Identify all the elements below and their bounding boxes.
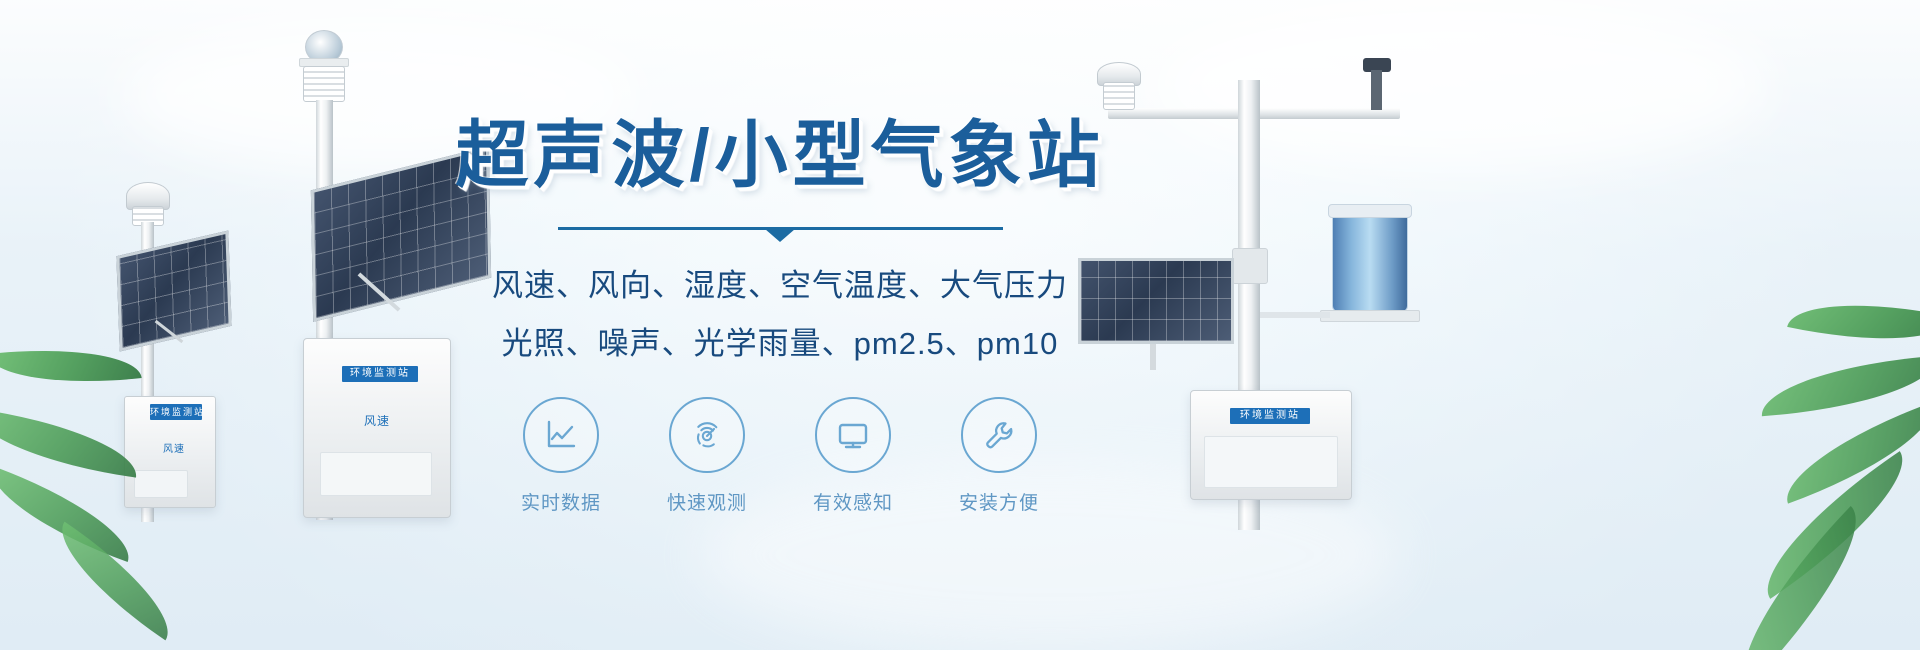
rain-gauge-rim — [1328, 204, 1412, 218]
line-chart-icon — [523, 397, 599, 473]
radiation-shield-stack — [303, 66, 345, 102]
feature-item-realtime-data[interactable]: 实时数据 — [517, 397, 605, 515]
wrench-icon — [961, 397, 1037, 473]
leaf-blade — [1742, 451, 1920, 599]
cabinet-door-panel — [320, 452, 432, 496]
feature-label: 安装方便 — [959, 488, 1039, 515]
cabinet-vent — [134, 470, 188, 498]
feature-item-easy-install[interactable]: 安装方便 — [955, 397, 1043, 515]
cabinet-label: 环境监测站 — [1230, 408, 1310, 424]
monitor-icon — [815, 397, 891, 473]
leaf-blade — [1712, 506, 1888, 650]
feature-item-effective-sensing[interactable]: 有效感知 — [809, 397, 897, 515]
leaf-blade — [0, 408, 142, 477]
feature-item-fast-observation[interactable]: 快速观测 — [663, 397, 751, 515]
feature-label: 有效感知 — [813, 488, 893, 515]
shelf-support-arm — [1260, 312, 1330, 318]
instrument-shelf — [1320, 310, 1420, 322]
leaf-blade — [0, 466, 143, 562]
leaf-blade — [1772, 402, 1920, 503]
leaf-blade — [1787, 284, 1920, 360]
solar-panel — [1078, 258, 1234, 344]
leaf-blade — [1759, 356, 1920, 416]
feature-label: 实时数据 — [521, 488, 601, 515]
cabinet-brand-label: 风速 — [163, 440, 185, 455]
leaf-blade — [41, 522, 189, 641]
subtitle-line-2: 光照、噪声、光学雨量、pm2.5、pm10 — [502, 318, 1059, 363]
cabinet-door-panel — [1204, 436, 1338, 488]
mast-clamp — [1232, 248, 1268, 284]
cabinet-brand-label: 风速 — [364, 412, 390, 429]
panel-mount — [1150, 344, 1156, 370]
cabinet-label: 环境监测站 — [342, 366, 418, 382]
down-triangle-icon — [765, 229, 795, 242]
radiation-shield — [1103, 82, 1135, 110]
subtitle-line-1: 风速、风向、湿度、空气温度、大气压力 — [492, 260, 1068, 305]
sensor-stem — [1371, 70, 1382, 110]
product-banner: 环境监测站 风速 环境监测站 风速 超声波/小型气象站 风速、风向、湿度、空气温… — [0, 0, 1920, 650]
feature-label: 快速观测 — [667, 488, 747, 515]
rain-gauge — [1332, 210, 1408, 312]
feature-list: 实时数据 快速观测 — [517, 397, 1043, 515]
cabinet-label: 环境监测站 — [150, 404, 202, 420]
page-title: 超声波/小型气象站 — [455, 118, 1104, 195]
divider — [558, 227, 1003, 241]
banner-content: 超声波/小型气象站 风速、风向、湿度、空气温度、大气压力 光照、噪声、光学雨量、… — [430, 90, 1130, 570]
radar-sensor-icon — [669, 397, 745, 473]
